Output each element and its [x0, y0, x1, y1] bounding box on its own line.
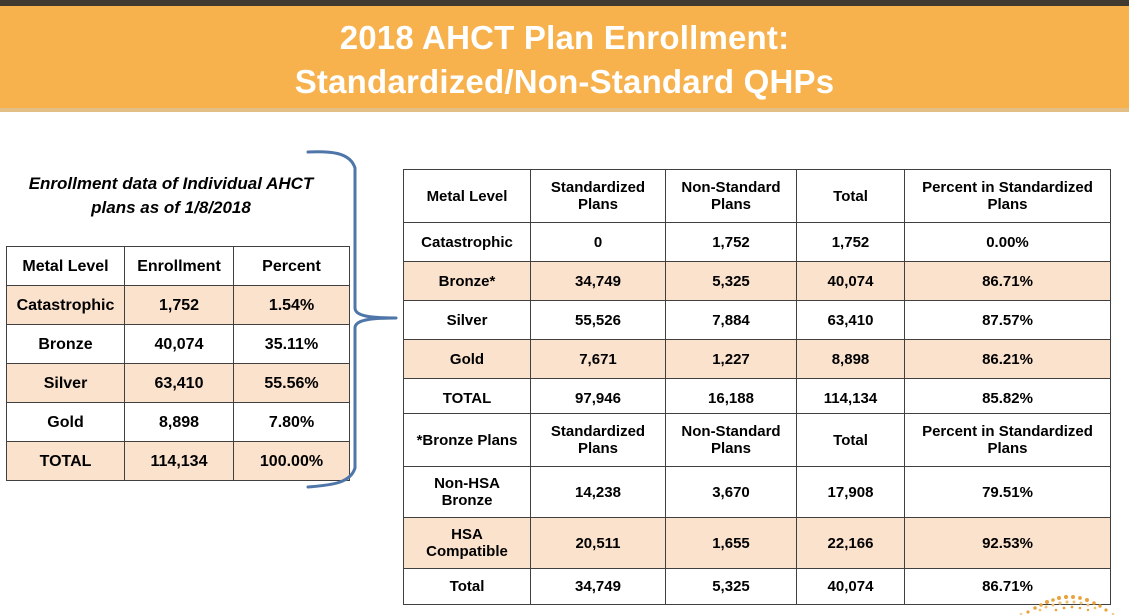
bronze-plans-detail-table: *Bronze Plans StandardizedPlans Non-Stan… — [403, 413, 1111, 605]
cell-total: 40,074 — [797, 569, 905, 605]
cell-non-standard: 1,227 — [666, 340, 797, 379]
table-row: Catastrophic 0 1,752 1,752 0.00% — [404, 223, 1111, 262]
table-row: Bronze* 34,749 5,325 40,074 86.71% — [404, 262, 1111, 301]
table-header-row: Metal Level StandardizedPlans Non-Standa… — [404, 170, 1111, 223]
cell-total: 22,166 — [797, 518, 905, 569]
cell-percent: 85.82% — [905, 379, 1111, 418]
table-row: Bronze 40,074 35.11% — [7, 325, 350, 364]
enrollment-caption: Enrollment data of Individual AHCT plans… — [6, 172, 336, 220]
cell-standardized: 0 — [531, 223, 666, 262]
row-label: TOTAL — [404, 379, 531, 418]
cell-percent: 92.53% — [905, 518, 1111, 569]
column-header: Metal Level — [404, 170, 531, 223]
row-label: Bronze — [7, 325, 125, 364]
cell-non-standard: 5,325 — [666, 262, 797, 301]
row-label: Bronze* — [404, 262, 531, 301]
enrollment-caption-line-2: plans as of 1/8/2018 — [6, 196, 336, 220]
column-header: Percent in StandardizedPlans — [905, 414, 1111, 467]
enrollment-summary-table: Metal Level Enrollment Percent Catastrop… — [6, 246, 350, 481]
metal-level-detail-table: Metal Level StandardizedPlans Non-Standa… — [403, 169, 1111, 418]
cell-percent: 79.51% — [905, 467, 1111, 518]
cell-standardized: 34,749 — [531, 569, 666, 605]
cell-non-standard: 3,670 — [666, 467, 797, 518]
column-header: Non-StandardPlans — [666, 414, 797, 467]
row-label: Silver — [7, 364, 125, 403]
cell-standardized: 7,671 — [531, 340, 666, 379]
cell-enrollment: 114,134 — [125, 442, 234, 481]
cell-enrollment: 40,074 — [125, 325, 234, 364]
cell-total: 63,410 — [797, 301, 905, 340]
cell-percent: 87.57% — [905, 301, 1111, 340]
cell-non-standard: 1,752 — [666, 223, 797, 262]
cell-percent: 100.00% — [234, 442, 350, 481]
cell-percent: 35.11% — [234, 325, 350, 364]
table-header-row: *Bronze Plans StandardizedPlans Non-Stan… — [404, 414, 1111, 467]
cell-enrollment: 63,410 — [125, 364, 234, 403]
column-header: Percent in StandardizedPlans — [905, 170, 1111, 223]
row-label: Silver — [404, 301, 531, 340]
cell-standardized: 14,238 — [531, 467, 666, 518]
cell-standardized: 20,511 — [531, 518, 666, 569]
column-header: Metal Level — [7, 247, 125, 286]
enrollment-caption-line-1: Enrollment data of Individual AHCT — [6, 172, 336, 196]
title-line-2: Standardized/Non-Standard QHPs — [295, 60, 835, 104]
cell-total: 40,074 — [797, 262, 905, 301]
cell-total: 1,752 — [797, 223, 905, 262]
row-label: HSACompatible — [404, 518, 531, 569]
cell-non-standard: 5,325 — [666, 569, 797, 605]
table-total-row: Total 34,749 5,325 40,074 86.71% — [404, 569, 1111, 605]
row-label: TOTAL — [7, 442, 125, 481]
table-row: Gold 7,671 1,227 8,898 86.21% — [404, 340, 1111, 379]
cell-total: 8,898 — [797, 340, 905, 379]
table-row: Gold 8,898 7.80% — [7, 403, 350, 442]
column-header: Total — [797, 170, 905, 223]
table-header-row: Metal Level Enrollment Percent — [7, 247, 350, 286]
column-header: Non-StandardPlans — [666, 170, 797, 223]
cell-enrollment: 1,752 — [125, 286, 234, 325]
cell-total: 17,908 — [797, 467, 905, 518]
row-label: Catastrophic — [404, 223, 531, 262]
column-header: StandardizedPlans — [531, 170, 666, 223]
cell-total: 114,134 — [797, 379, 905, 418]
cell-non-standard: 1,655 — [666, 518, 797, 569]
column-header: Total — [797, 414, 905, 467]
column-header: Percent — [234, 247, 350, 286]
cell-percent: 86.71% — [905, 262, 1111, 301]
cell-non-standard: 16,188 — [666, 379, 797, 418]
table-row: Silver 55,526 7,884 63,410 87.57% — [404, 301, 1111, 340]
row-label: Total — [404, 569, 531, 605]
table-total-row: TOTAL 114,134 100.00% — [7, 442, 350, 481]
title-banner: 2018 AHCT Plan Enrollment: Standardized/… — [0, 6, 1129, 112]
cell-enrollment: 8,898 — [125, 403, 234, 442]
table-row: Silver 63,410 55.56% — [7, 364, 350, 403]
cell-percent: 7.80% — [234, 403, 350, 442]
cell-percent: 55.56% — [234, 364, 350, 403]
column-header: Enrollment — [125, 247, 234, 286]
column-header: StandardizedPlans — [531, 414, 666, 467]
table-total-row: TOTAL 97,946 16,188 114,134 85.82% — [404, 379, 1111, 418]
title-line-1: 2018 AHCT Plan Enrollment: — [340, 16, 790, 60]
cell-percent: 1.54% — [234, 286, 350, 325]
cell-standardized: 97,946 — [531, 379, 666, 418]
cell-percent: 0.00% — [905, 223, 1111, 262]
row-label: Gold — [7, 403, 125, 442]
table-row: Non-HSABronze 14,238 3,670 17,908 79.51% — [404, 467, 1111, 518]
cell-non-standard: 7,884 — [666, 301, 797, 340]
cell-standardized: 55,526 — [531, 301, 666, 340]
cell-percent: 86.71% — [905, 569, 1111, 605]
row-label: Gold — [404, 340, 531, 379]
table-row: Catastrophic 1,752 1.54% — [7, 286, 350, 325]
row-label: Catastrophic — [7, 286, 125, 325]
cell-standardized: 34,749 — [531, 262, 666, 301]
banner-underline — [0, 108, 1129, 112]
table-row: HSACompatible 20,511 1,655 22,166 92.53% — [404, 518, 1111, 569]
row-label: Non-HSABronze — [404, 467, 531, 518]
cell-percent: 86.21% — [905, 340, 1111, 379]
column-header: *Bronze Plans — [404, 414, 531, 467]
